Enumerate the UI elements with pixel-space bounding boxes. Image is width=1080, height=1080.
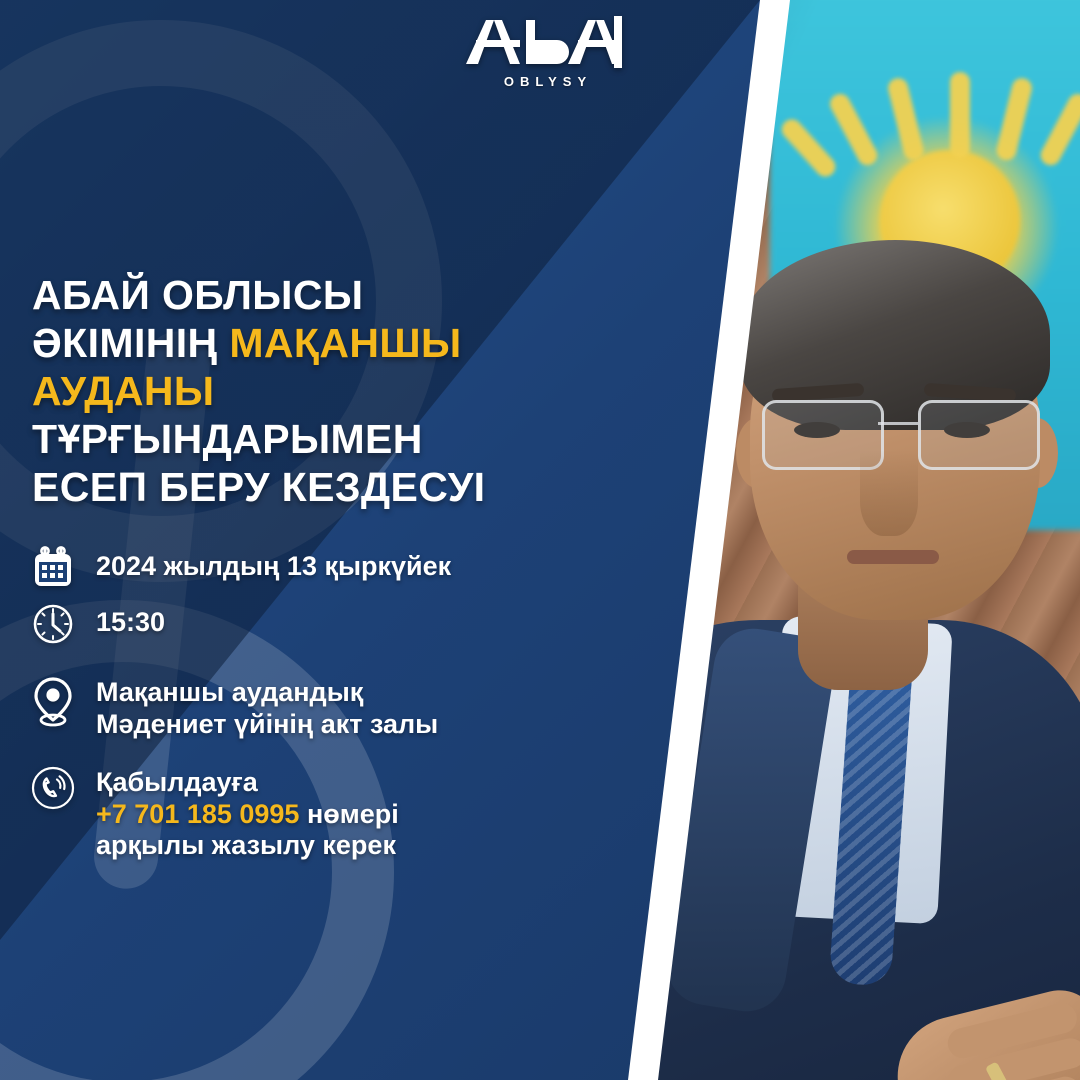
headline-line-2: ӘКІМІНІҢ МАҚАНШЫ <box>32 320 552 368</box>
headline-district-name: МАҚАНШЫ <box>229 320 461 366</box>
registration-phone-number[interactable]: +7 701 185 0995 <box>96 799 299 829</box>
headline-line-3: АУДАНЫ <box>32 368 552 416</box>
abai-oblysy-logo: OBLYSY <box>448 14 648 89</box>
headline-line-1: АБАЙ ОБЛЫСЫ <box>32 272 552 320</box>
registration-line-2: +7 701 185 0995 нөмері <box>96 799 399 831</box>
logo-subtitle: OBLYSY <box>448 74 648 89</box>
clock-icon <box>30 601 78 649</box>
registration-row: Қабылдауға +7 701 185 0995 нөмері арқылы… <box>30 765 570 863</box>
time-row: 15:30 <box>30 601 570 649</box>
date-row: 2024 жылдың 13 қыркүйек <box>30 545 570 593</box>
phone-call-icon <box>30 765 78 813</box>
page-title: АБАЙ ОБЛЫСЫ ӘКІМІНІҢ МАҚАНШЫ АУДАНЫ ТҰРҒ… <box>32 272 552 512</box>
calendar-icon <box>30 545 78 593</box>
headline-line-2-plain: ӘКІМІНІҢ <box>32 320 229 366</box>
event-location: Мақаншы аудандық Мәдениет үйінің акт зал… <box>96 675 438 741</box>
headline-line-5: ЕСЕП БЕРУ КЕЗДЕСУІ <box>32 464 552 512</box>
location-pin-icon <box>30 675 78 723</box>
abai-logo-icon <box>464 14 632 72</box>
registration-instructions: Қабылдауға +7 701 185 0995 нөмері арқылы… <box>96 765 399 863</box>
registration-line-3: арқылы жазылу керек <box>96 830 399 862</box>
announcement-poster: OBLYSY АБАЙ ОБЛЫСЫ ӘКІМІНІҢ МАҚАНШЫ АУДА… <box>0 0 1080 1080</box>
location-line-2: Мәдениет үйінің акт залы <box>96 709 438 741</box>
location-row: Мақаншы аудандық Мәдениет үйінің акт зал… <box>30 675 570 741</box>
registration-line-1: Қабылдауға <box>96 767 399 799</box>
location-line-1: Мақаншы аудандық <box>96 677 438 709</box>
headline-line-4: ТҰРҒЫНДАРЫМЕН <box>32 416 552 464</box>
event-date: 2024 жылдың 13 қыркүйек <box>96 545 451 583</box>
event-time: 15:30 <box>96 601 165 639</box>
event-details: 2024 жылдың 13 қыркүйек 15:30 <box>30 545 570 876</box>
registration-line-2-tail: нөмері <box>299 799 398 829</box>
